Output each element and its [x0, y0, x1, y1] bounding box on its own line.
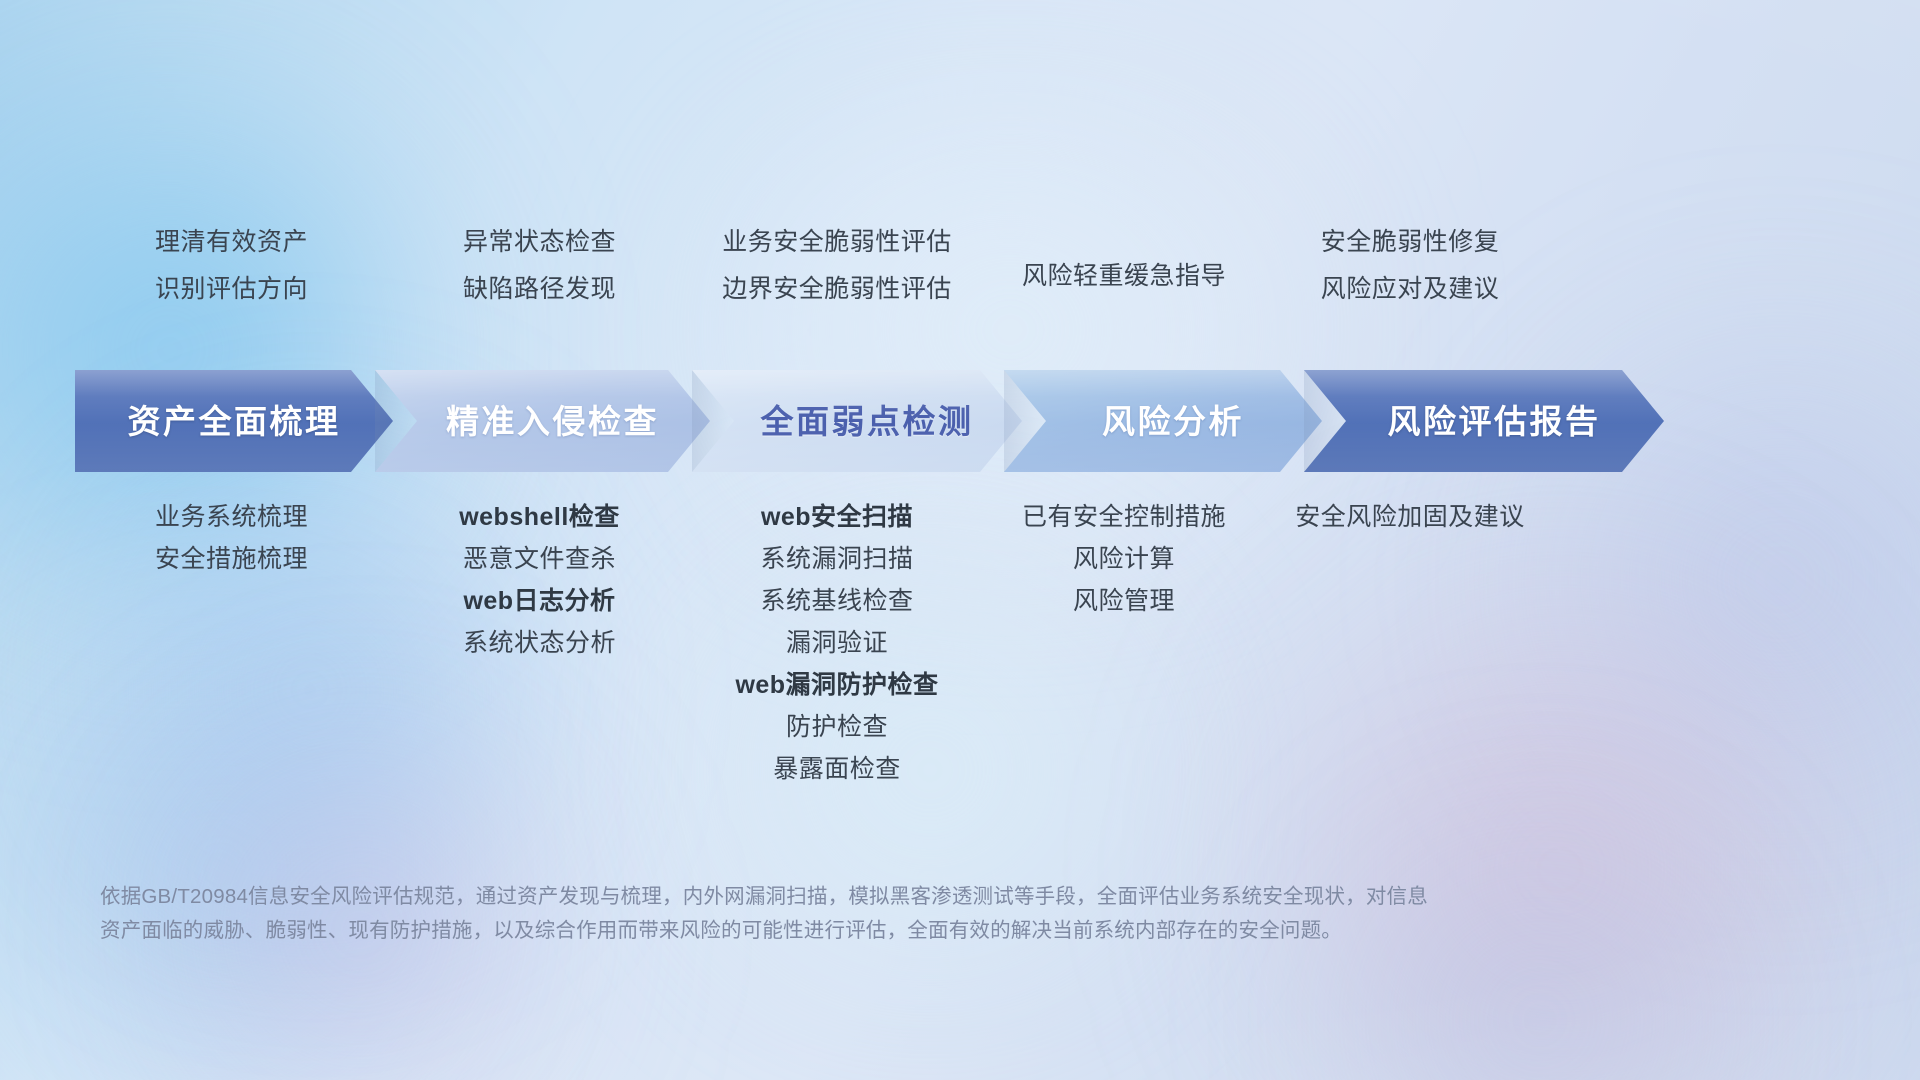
- bottom-caption-item: 已有安全控制措施: [1022, 505, 1226, 530]
- bottom-captions-stage-4: 已有安全控制措施 风险计算 风险管理: [983, 505, 1265, 782]
- bottom-caption-item: web日志分析: [463, 589, 615, 614]
- chevron-label: 精准入侵检查: [446, 405, 659, 438]
- chevron-label: 全面弱点检测: [761, 405, 974, 438]
- bottom-caption-item: 漏洞验证: [786, 631, 888, 656]
- bottom-captions-stage-2: webshell检查 恶意文件查杀 web日志分析 系统状态分析: [388, 505, 691, 782]
- top-caption-item: 风险轻重缓急指导: [1022, 264, 1226, 289]
- top-caption-item: 边界安全脆弱性评估: [722, 277, 952, 302]
- bottom-caption-item: 系统基线检查: [760, 589, 913, 614]
- bottom-captions-row: 业务系统梳理 安全措施梳理 webshell检查 恶意文件查杀 web日志分析 …: [75, 505, 1855, 782]
- bottom-caption-item: 风险管理: [1073, 589, 1175, 614]
- top-caption-item: 识别评估方向: [155, 277, 308, 302]
- top-caption-item: 业务安全脆弱性评估: [722, 230, 952, 255]
- top-caption-item: 安全脆弱性修复: [1321, 230, 1500, 255]
- top-captions-stage-1: 理清有效资产 识别评估方向: [75, 230, 388, 302]
- bottom-caption-item: 安全风险加固及建议: [1295, 505, 1525, 530]
- process-chevron-band: 资产全面梳理 精准入侵检查 全面弱点检测 风险分析 风险评估报告: [75, 370, 1857, 472]
- bottom-caption-item: 安全措施梳理: [155, 547, 308, 572]
- top-caption-item: 异常状态检查: [463, 230, 616, 255]
- bottom-caption-item: 系统漏洞扫描: [760, 547, 913, 572]
- bottom-caption-item: webshell检查: [459, 505, 620, 530]
- bottom-caption-item: 系统状态分析: [463, 631, 616, 656]
- chevron-label: 风险评估报告: [1388, 405, 1601, 438]
- top-captions-stage-3: 业务安全脆弱性评估 边界安全脆弱性评估: [691, 230, 983, 302]
- chevron-label: 风险分析: [1102, 405, 1244, 438]
- footer-description: 依据GB/T20984信息安全风险评估规范，通过资产发现与梳理，内外网漏洞扫描，…: [100, 880, 1620, 948]
- top-caption-item: 风险应对及建议: [1321, 277, 1500, 302]
- top-captions-stage-4: 风险轻重缓急指导: [983, 230, 1265, 302]
- top-captions-row: 理清有效资产 识别评估方向 异常状态检查 缺陷路径发现 业务安全脆弱性评估 边界…: [75, 230, 1855, 302]
- top-captions-stage-5: 安全脆弱性修复 风险应对及建议: [1265, 230, 1555, 302]
- chevron-stage-weakness-detection[interactable]: 全面弱点检测: [692, 370, 1022, 472]
- footer-line-1: 依据GB/T20984信息安全风险评估规范，通过资产发现与梳理，内外网漏洞扫描，…: [100, 880, 1620, 914]
- bottom-caption-item: web安全扫描: [761, 505, 913, 530]
- chevron-stage-intrusion-check[interactable]: 精准入侵检查: [375, 370, 710, 472]
- bottom-caption-item: 防护检查: [786, 715, 888, 740]
- diagram-stage: 理清有效资产 识别评估方向 异常状态检查 缺陷路径发现 业务安全脆弱性评估 边界…: [0, 0, 1920, 1080]
- chevron-stage-asset-inventory[interactable]: 资产全面梳理: [75, 370, 393, 472]
- bottom-caption-item: 业务系统梳理: [155, 505, 308, 530]
- chevron-stage-risk-report[interactable]: 风险评估报告: [1304, 370, 1664, 472]
- bottom-captions-stage-5: 安全风险加固及建议: [1265, 505, 1555, 782]
- bottom-caption-item: 暴露面检查: [773, 757, 901, 782]
- top-caption-item: 理清有效资产: [155, 230, 308, 255]
- bottom-captions-stage-1: 业务系统梳理 安全措施梳理: [75, 505, 388, 782]
- bottom-caption-item: web漏洞防护检查: [735, 673, 938, 698]
- bottom-captions-stage-3: web安全扫描 系统漏洞扫描 系统基线检查 漏洞验证 web漏洞防护检查 防护检…: [691, 505, 983, 782]
- top-captions-stage-2: 异常状态检查 缺陷路径发现: [388, 230, 691, 302]
- chevron-label: 资产全面梳理: [128, 405, 341, 438]
- chevron-stage-risk-analysis[interactable]: 风险分析: [1004, 370, 1322, 472]
- bottom-caption-item: 风险计算: [1073, 547, 1175, 572]
- footer-line-2: 资产面临的威胁、脆弱性、现有防护措施，以及综合作用而带来风险的可能性进行评估，全…: [100, 914, 1620, 948]
- bottom-caption-item: 恶意文件查杀: [463, 547, 616, 572]
- top-caption-item: 缺陷路径发现: [463, 277, 616, 302]
